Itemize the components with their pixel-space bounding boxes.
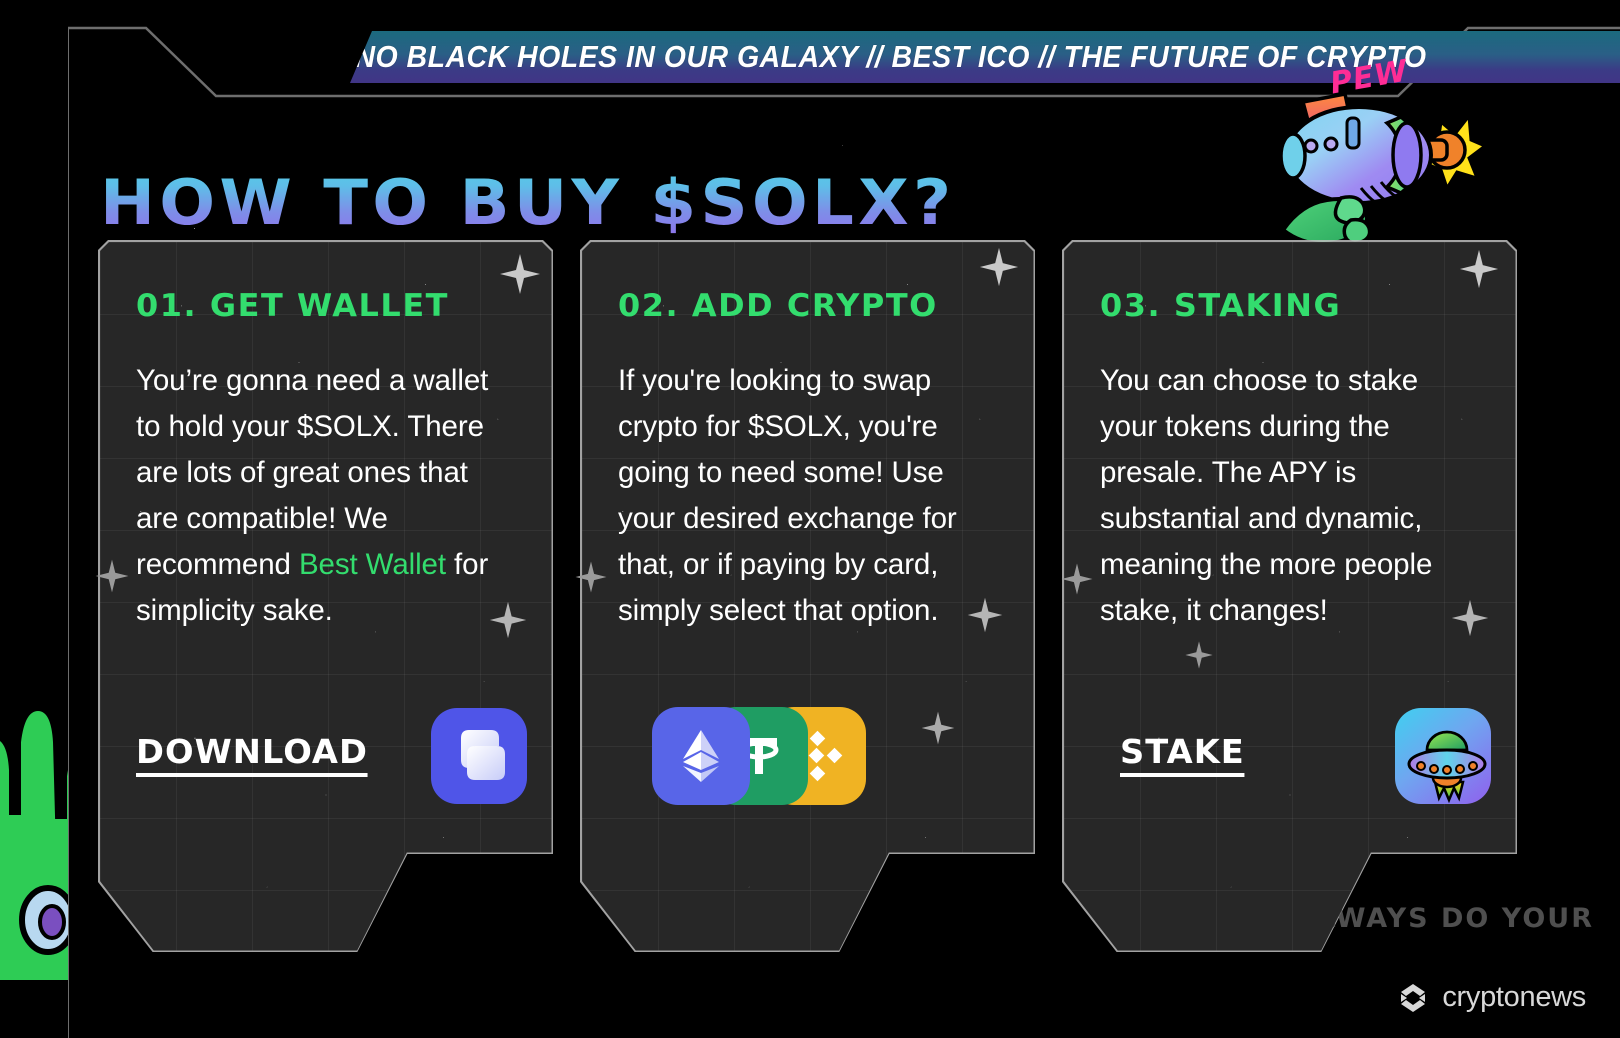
brand-logo: cryptonews — [1398, 981, 1586, 1014]
card-body: You’re gonna need a wallet to hold your … — [136, 358, 515, 634]
card-footer: STAKE — [1120, 706, 1491, 806]
step-card-3: 03. STAKING You can choose to stake your… — [1062, 240, 1517, 952]
stake-button[interactable]: STAKE — [1120, 735, 1245, 777]
step-card-1: 01. GET WALLET You’re gonna need a walle… — [98, 240, 553, 952]
card-footer — [658, 706, 1009, 806]
download-button[interactable]: DOWNLOAD — [136, 735, 368, 777]
card-body: If you're looking to swap crypto for $SO… — [618, 358, 997, 634]
card-heading: 03. STAKING — [1100, 288, 1490, 324]
cryptonews-mark-icon — [1398, 983, 1428, 1013]
ray-gun-icon — [1255, 60, 1485, 260]
card-footer: DOWNLOAD — [136, 706, 527, 806]
page-title: HOW TO BUY $SOLX? — [100, 166, 955, 239]
best-wallet-link[interactable]: Best Wallet — [299, 548, 446, 581]
card-heading: 01. GET WALLET — [136, 288, 526, 324]
ufo-icon[interactable] — [1395, 708, 1491, 804]
slide-root: LD // NO BLACK HOLES IN OUR GALAXY // BE… — [0, 0, 1620, 1038]
step-card-2: 02. ADD CRYPTO If you're looking to swap… — [580, 240, 1035, 952]
card-body: You can choose to stake your tokens duri… — [1100, 358, 1479, 634]
alien-hand-icon — [0, 650, 68, 980]
ethereum-icon[interactable] — [652, 707, 750, 805]
crypto-icon-group — [652, 704, 867, 808]
brand-name: cryptonews — [1442, 981, 1586, 1014]
steps-card-row: 01. GET WALLET You’re gonna need a walle… — [98, 240, 1518, 952]
card-heading: 02. ADD CRYPTO — [618, 288, 1008, 324]
best-wallet-icon[interactable] — [431, 708, 527, 804]
